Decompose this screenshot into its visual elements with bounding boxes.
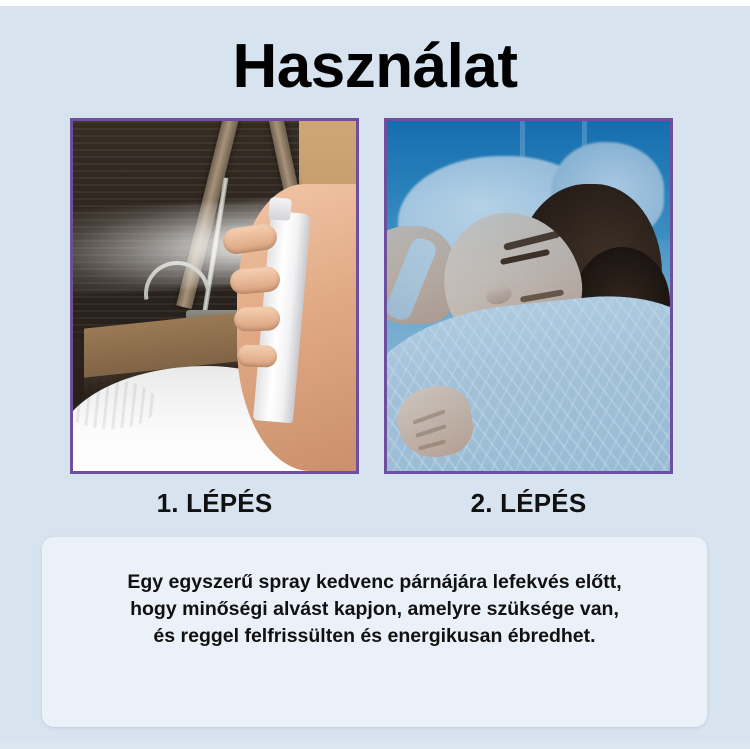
step-1-label: 1. LÉPÉS	[70, 487, 359, 519]
step-image-panels	[0, 118, 750, 474]
top-white-strip	[0, 0, 750, 6]
step-2-image-panel	[384, 118, 673, 474]
spray-nozzle-icon	[268, 197, 292, 221]
finger-3	[233, 306, 280, 332]
blue-night-color-cast	[387, 121, 670, 471]
page-title: Használat	[0, 32, 750, 102]
description-line-3: és reggel felfrissülten és energikusan é…	[76, 623, 673, 650]
step-labels: 1. LÉPÉS 2. LÉPÉS	[0, 487, 750, 523]
step-1-image-panel	[70, 118, 359, 474]
description-line-1: Egy egyszerű spray kedvenc párnájára lef…	[76, 569, 673, 596]
description-text: Egy egyszerű spray kedvenc párnájára lef…	[76, 569, 673, 650]
finger-2	[229, 266, 281, 295]
description-line-2: hogy minőségi alvást kapjon, amelyre szü…	[76, 596, 673, 623]
promo-page: Használat	[0, 0, 750, 749]
step-2-label: 2. LÉPÉS	[384, 487, 673, 519]
description-card: Egy egyszerű spray kedvenc párnájára lef…	[42, 537, 707, 727]
bottom-strip	[0, 741, 750, 749]
finger-4	[236, 344, 277, 367]
spray-pillow-photo	[73, 121, 356, 471]
sleeping-woman-photo	[387, 121, 670, 471]
